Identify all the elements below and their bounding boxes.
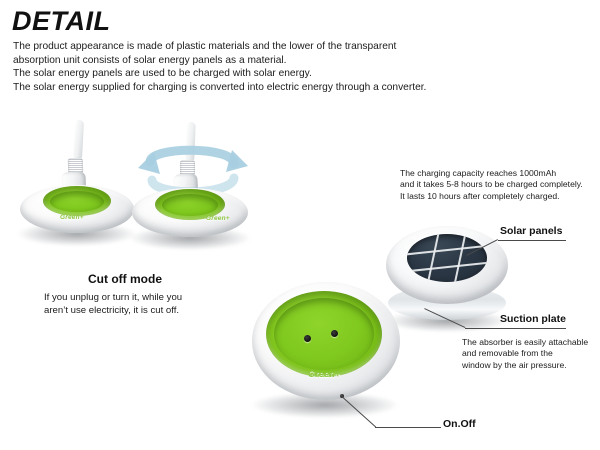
panel-grid-line [407,261,487,273]
device-socket-inner [50,191,104,212]
absorber-note: The absorber is easily attachable and re… [462,337,588,371]
cut-off-line-1: If you unplug or turn it, while you [44,291,182,304]
panel-grid-line [426,234,441,282]
absorber-note-line-3: window by the air pressure. [462,360,588,371]
solar-panel [407,234,487,282]
power-cable [73,120,84,160]
page-title: DETAIL [12,6,111,37]
cut-off-line-2: aren’t use electricity, it is cut off. [44,304,182,317]
socket-hole-right [331,330,338,337]
absorber-note-line-1: The absorber is easily attachable [462,337,588,348]
intro-line-1: The product appearance is made of plasti… [13,40,473,54]
battery-note-line-3: It lasts 10 hours after completely charg… [400,191,583,202]
socket-hole-left [304,335,311,342]
intro-paragraph: The product appearance is made of plasti… [13,40,473,94]
leader-line-solar-h [498,240,566,241]
callout-on-off: On.Off [443,418,476,430]
absorber-note-line-2: and removable from the [462,348,588,359]
battery-note: The charging capacity reaches 1000mAh an… [400,168,583,202]
brand-logo: Green+ [60,214,84,221]
device-socket-inner [162,194,218,216]
battery-note-line-2: and it takes 5-8 hours to be charged com… [400,179,583,190]
panel-grid-line [453,234,468,282]
cut-off-heading: Cut off mode [88,272,162,286]
brand-logo: Green+ [308,369,340,379]
intro-line-4: The solar energy supplied for charging i… [13,81,473,95]
leader-line-suction-h [465,328,566,329]
leader-line-onoff-h [375,427,441,428]
intro-line-3: The solar energy panels are used to be c… [13,67,473,81]
brand-logo: Green+ [206,215,230,222]
intro-line-2: absorption unit consists of solar energy… [13,54,473,68]
callout-solar-panels: Solar panels [500,225,562,237]
device-socket-inner [274,298,374,370]
battery-note-line-1: The charging capacity reaches 1000mAh [400,168,583,179]
callout-suction-plate: Suction plate [500,313,566,325]
cut-off-description: If you unplug or turn it, while you aren… [44,291,182,317]
detail-board: DETAIL The product appearance is made of… [0,0,600,450]
